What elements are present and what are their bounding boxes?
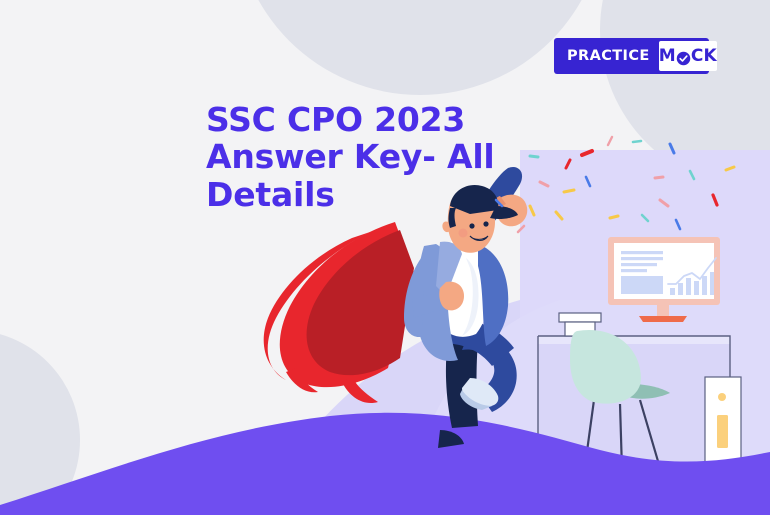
- logo-practice-text: PRACTICE: [557, 49, 659, 64]
- eye: [469, 223, 474, 228]
- monitor-base: [639, 316, 687, 322]
- screen-text-line: [621, 263, 657, 266]
- hand-chest: [439, 282, 464, 311]
- desk-top: [538, 336, 730, 344]
- paper-tray-top: [559, 313, 601, 322]
- confetti-piece: [564, 190, 574, 192]
- screen-chart-bar: [670, 288, 675, 295]
- check-circle-icon: [676, 51, 691, 66]
- logo-mock-text-pre: M: [659, 48, 676, 65]
- screen-chart-bar: [694, 281, 699, 295]
- logo-mock-box: M CK: [659, 41, 717, 71]
- cabinet-handle: [717, 415, 728, 448]
- screen-text-line: [621, 257, 663, 260]
- confetti-piece: [633, 141, 641, 142]
- screen-chart-bar: [686, 278, 691, 295]
- eye: [483, 221, 488, 226]
- screen-content-block: [621, 276, 663, 294]
- illustration-artwork: [0, 0, 770, 515]
- screen-text-line: [621, 251, 663, 254]
- cabinet-knob: [718, 393, 726, 401]
- brand-logo[interactable]: PRACTICE M CK: [554, 38, 709, 74]
- promo-banner: SSC CPO 2023 Answer Key- All Details PRA…: [0, 0, 770, 515]
- cheek-blush: [459, 229, 468, 238]
- confetti-piece: [655, 177, 663, 178]
- screen-chart-bar: [702, 276, 707, 295]
- confetti-piece: [530, 156, 538, 157]
- screen-chart-bar: [678, 283, 683, 295]
- screen-chart-bar: [710, 272, 714, 295]
- screen-text-line: [621, 269, 647, 272]
- monitor-neck: [657, 305, 669, 316]
- confetti-piece: [610, 216, 618, 218]
- logo-mock-text-post: CK: [691, 48, 717, 65]
- page-title: SSC CPO 2023 Answer Key- All Details: [206, 101, 506, 213]
